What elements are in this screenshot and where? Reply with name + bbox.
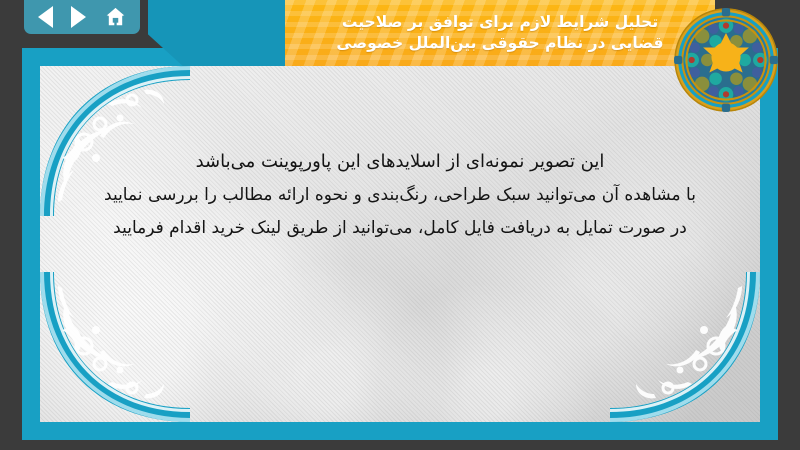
arabesque-corner-ornament-bottom-left (40, 272, 190, 422)
presentation-stage: این تصویر نمونه‌ای از اسلایدهای این پاور… (0, 0, 800, 450)
home-icon (104, 6, 127, 28)
arabesque-corner-ornament-bottom-right (610, 272, 760, 422)
body-line-1: این تصویر نمونه‌ای از اسلایدهای این پاور… (80, 144, 720, 179)
persian-mandala-medallion (674, 8, 778, 112)
body-line-2: با مشاهده آن می‌توانید سبک طراحی، رنگ‌بن… (80, 179, 720, 212)
slide-frame: این تصویر نمونه‌ای از اسلایدهای این پاور… (22, 48, 778, 440)
home-button[interactable] (104, 6, 126, 28)
title-line-2: قضایی در نظام حقوقی بین‌الملل خصوصی (336, 34, 663, 53)
navigation-toolbar (24, 0, 140, 34)
back-button[interactable] (38, 6, 60, 28)
slide-body-text: این تصویر نمونه‌ای از اسلایدهای این پاور… (80, 144, 720, 245)
forward-button[interactable] (71, 6, 93, 28)
triangle-right-icon (71, 6, 86, 28)
title-line-1: تحلیل شرایط لازم برای توافق بر صلاحیت (342, 13, 658, 32)
triangle-left-icon (38, 6, 53, 28)
slide-content-area: این تصویر نمونه‌ای از اسلایدهای این پاور… (40, 66, 760, 422)
body-line-3: در صورت تمایل به دریافت فایل کامل، می‌تو… (80, 212, 720, 245)
slide-title-banner: تحلیل شرایط لازم برای توافق بر صلاحیت قض… (285, 0, 715, 66)
